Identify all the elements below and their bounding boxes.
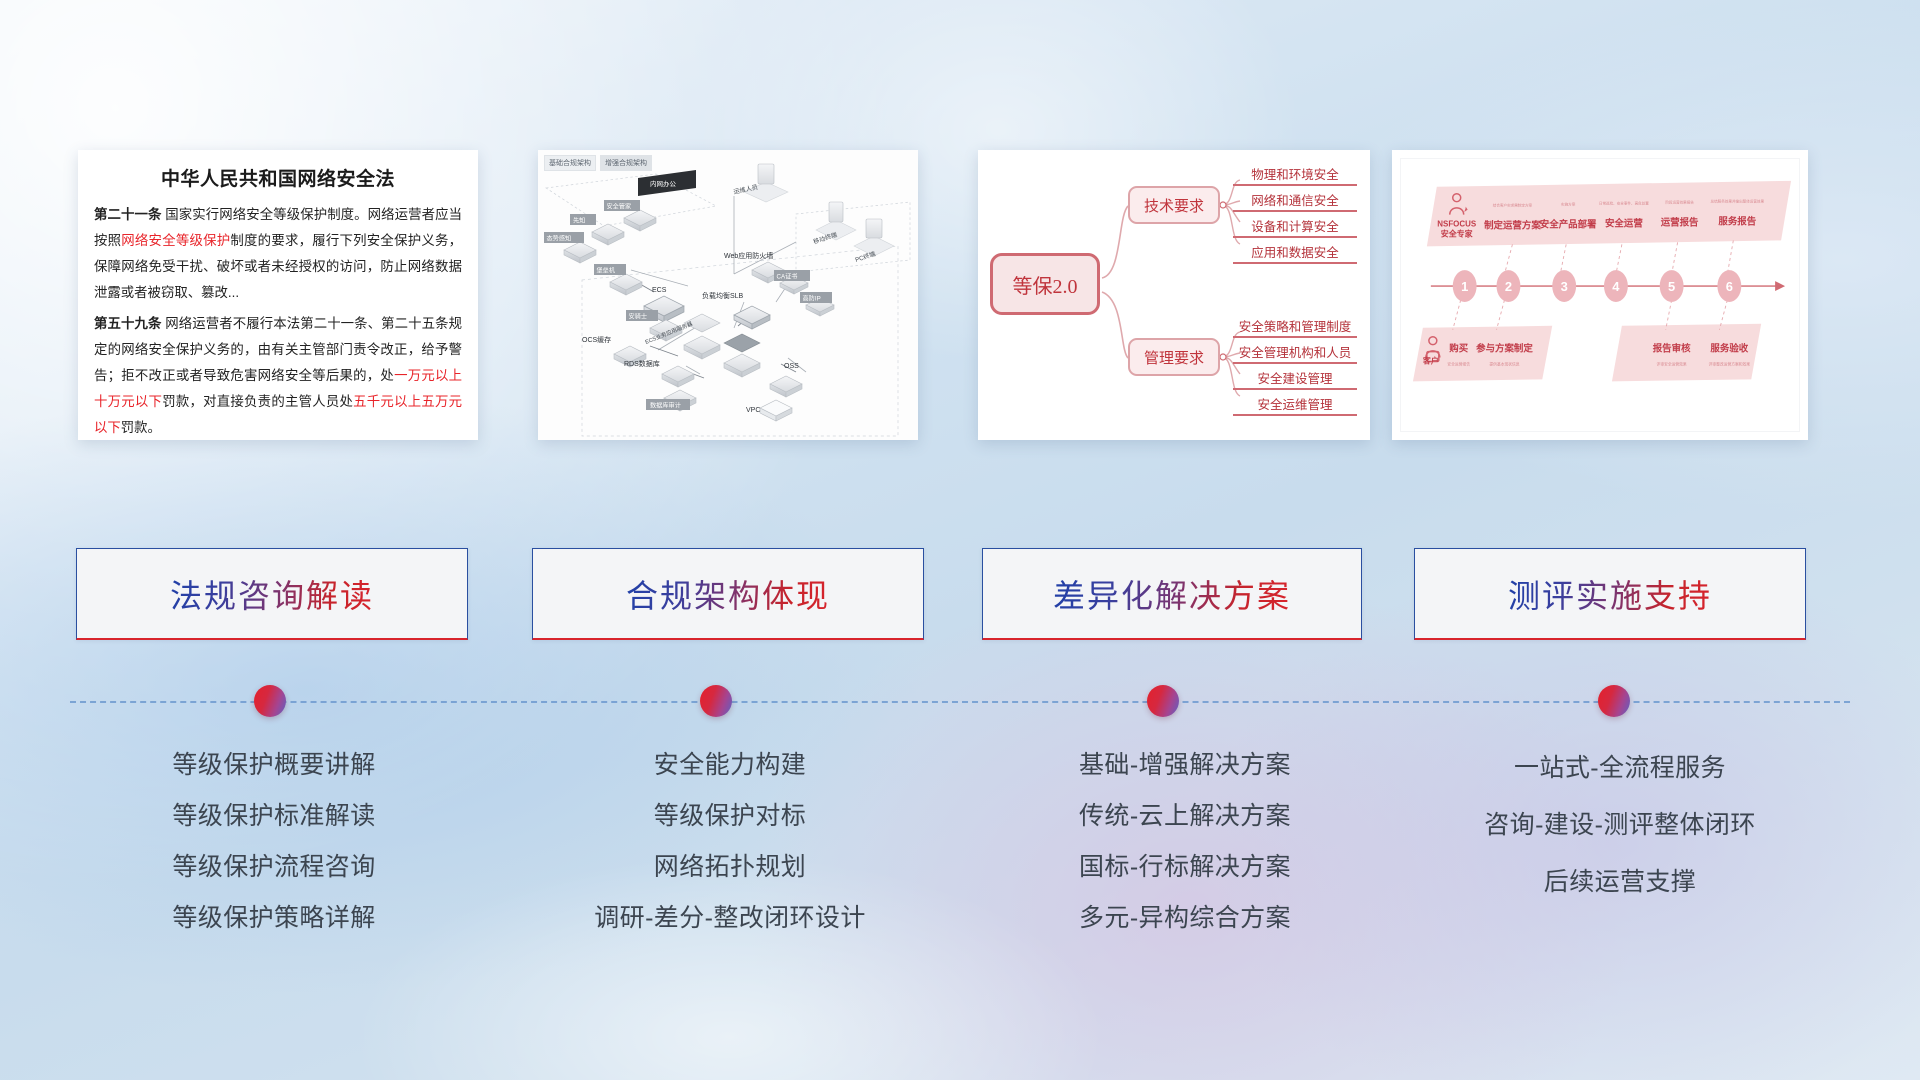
- arch-label-17: OSS: [784, 363, 799, 370]
- nsfocus-bottom-caption-4: 评审整改运营方案和效果: [1709, 361, 1751, 366]
- architecture-banner-label: 内网办公: [650, 179, 677, 188]
- nsfocus-step-number-2: 2: [1505, 279, 1512, 294]
- section-title-label-4: 测评实施支持: [1508, 571, 1712, 617]
- nsfocus-top-title-2: 安全产品部署: [1540, 219, 1597, 231]
- nsfocus-top-title-3: 安全运营: [1605, 218, 1643, 230]
- law-article-21: 第二十一条 国家实行网络安全等级保护制度。网络运营者应当按照网络安全等级保护制度…: [94, 202, 462, 306]
- list-item: 基础-增强解决方案: [975, 740, 1395, 791]
- list-item: 传统-云上解决方案: [975, 791, 1395, 842]
- card-cybersecurity-law[interactable]: 中华人民共和国网络安全法 第二十一条 国家实行网络安全等级保护制度。网络运营者应…: [78, 150, 478, 440]
- slide-stage: 中华人民共和国网络安全法 第二十一条 国家实行网络安全等级保护制度。网络运营者应…: [0, 0, 1920, 1080]
- section-title-box-1[interactable]: 法规咨询解读: [76, 548, 468, 640]
- nsfocus-top-caption-2: 实施方案: [1561, 202, 1576, 207]
- law-document: 中华人民共和国网络安全法 第二十一条 国家实行网络安全等级保护制度。网络运营者应…: [78, 150, 478, 440]
- nsfocus-top-caption-5: 总结服务效果并输出整体运营效果: [1711, 199, 1765, 204]
- nsfocus-bottom-caption-1: 安全运营报告: [1447, 361, 1470, 366]
- timeline-dot-2[interactable]: [700, 685, 732, 717]
- arch-label-8: CA证书: [777, 272, 798, 280]
- nsfocus-step-number-6: 6: [1726, 279, 1733, 294]
- law-article-21-highlight: 网络安全等级保护: [121, 233, 230, 248]
- arch-label-12: 安骑士: [629, 312, 648, 320]
- mindmap-leaf-m1: 安全策略和管理制度: [1233, 316, 1357, 338]
- list-item: 咨询-建设-测评整体闭环: [1410, 797, 1830, 854]
- section-items-4: 一站式-全流程服务 咨询-建设-测评整体闭环 后续运营支撑: [1410, 740, 1830, 911]
- nsfocus-customer-label: 客户: [1422, 356, 1439, 366]
- arch-label-9: 高防IP: [803, 294, 821, 302]
- arch-label-2: 态势感知: [547, 234, 572, 242]
- arch-label-16b: 数据库审计: [650, 401, 681, 409]
- nsfocus-top-title-4: 运营报告: [1661, 217, 1699, 229]
- list-item: 一站式-全流程服务: [1410, 740, 1830, 797]
- mindmap-leaf-t3: 设备和计算安全: [1233, 216, 1357, 238]
- list-item: 多元-异构综合方案: [975, 893, 1395, 944]
- section-title-row: 法规咨询解读 合规架构体现 差异化解决方案 测评实施支持: [0, 548, 1920, 644]
- arch-label-5: Web应用防火墙: [724, 251, 773, 260]
- arch-label-3: 堡垒机: [597, 266, 616, 274]
- nsfocus-process: 1 2 3 4 5 6 NSFOCUS 安全专家 客户: [1392, 150, 1808, 440]
- section-title-label-2: 合规架构体现: [626, 571, 830, 617]
- nsfocus-top-caption-3: 日常巡检、安全事件、高危处置: [1599, 201, 1649, 206]
- nsfocus-bottom-title-1: 购买: [1449, 343, 1468, 355]
- nsfocus-bottom-caption-2: 提供基本现状信息: [1489, 361, 1519, 366]
- mindmap-branch-technical: 技术要求: [1128, 186, 1220, 224]
- section-items-3: 基础-增强解决方案 传统-云上解决方案 国标-行标解决方案 多元-异构综合方案: [975, 740, 1395, 944]
- list-item: 网络拓扑规划: [520, 842, 940, 893]
- nsfocus-top-title-1: 制定运营方案: [1484, 219, 1541, 231]
- section-title-box-4[interactable]: 测评实施支持: [1414, 548, 1806, 640]
- section-items-row: 等级保护概要讲解 等级保护标准解读 等级保护流程咨询 等级保护策略详解 安全能力…: [0, 740, 1920, 960]
- mindmap-leaf-m4: 安全运维管理: [1233, 394, 1357, 416]
- list-item: 等级保护策略详解: [74, 893, 474, 944]
- arch-label-14: OCS缓存: [582, 335, 611, 344]
- law-article-59: 第五十九条 网络运营者不履行本法第二十一条、第二十五条规定的网络安全保护义务的，…: [94, 311, 462, 440]
- mindmap-leaf-m3: 安全建设管理: [1233, 368, 1357, 390]
- law-article-21-label: 第二十一条: [94, 207, 161, 222]
- nsfocus-role-sub: 安全专家: [1441, 228, 1473, 238]
- mindmap-root: 等保2.0: [990, 253, 1100, 315]
- card-dengbao-mindmap[interactable]: 等保2.0 技术要求 管理要求 物理和环境安全 网络和通信安全 设备和计算安全 …: [978, 150, 1370, 440]
- section-title-box-3[interactable]: 差异化解决方案: [982, 548, 1362, 640]
- list-item: 等级保护概要讲解: [74, 740, 474, 791]
- mindmap-leaf-t2: 网络和通信安全: [1233, 190, 1357, 212]
- nsfocus-top-caption-4: 阶段运营效果报告: [1665, 200, 1694, 205]
- nsfocus-top-title-5: 服务报告: [1718, 216, 1756, 228]
- nsfocus-bottom-caption-3: 评审安全运营效果: [1657, 361, 1687, 366]
- law-title: 中华人民共和国网络安全法: [94, 164, 462, 191]
- nsfocus-step-number-4: 4: [1612, 279, 1620, 294]
- illustration-card-row: 中华人民共和国网络安全法 第二十一条 国家实行网络安全等级保护制度。网络运营者应…: [0, 150, 1920, 440]
- architecture-canvas: 内网办公 安全管家 先知 态势感知 堡垒机 CA证书 高防IP 安骑士: [538, 150, 918, 440]
- mindmap-leaf-m2: 安全管理机构和人员: [1233, 342, 1357, 364]
- list-item: 调研-差分-整改闭环设计: [520, 893, 940, 944]
- nsfocus-bottom-title-4: 服务验收: [1710, 343, 1748, 355]
- list-item: 国标-行标解决方案: [975, 842, 1395, 893]
- arch-label-15: RDS数据库: [624, 359, 660, 368]
- nsfocus-top-caption-1: 结合客户实求需制定方案: [1493, 203, 1533, 208]
- mindmap-leaf-t1: 物理和环境安全: [1233, 164, 1357, 186]
- law-article-59-text-c: 罚款。: [121, 420, 161, 435]
- architecture-diagram: 基础合规架构 增强合规架构: [538, 150, 918, 440]
- mindmap-leaf-t4: 应用和数据安全: [1233, 242, 1357, 264]
- list-item: 等级保护流程咨询: [74, 842, 474, 893]
- section-title-label-1: 法规咨询解读: [170, 571, 374, 617]
- timeline: [0, 672, 1920, 732]
- timeline-dot-3[interactable]: [1147, 685, 1179, 717]
- card-cloud-architecture[interactable]: 基础合规架构 增强合规架构: [538, 150, 918, 440]
- list-item: 后续运营支撑: [1410, 854, 1830, 911]
- mindmap-branch-management: 管理要求: [1128, 338, 1220, 376]
- nsfocus-step-number-5: 5: [1668, 279, 1675, 294]
- arch-label-0: 安全管家: [607, 202, 632, 210]
- nsfocus-step-number-1: 1: [1461, 279, 1468, 294]
- mindmap: 等保2.0 技术要求 管理要求 物理和环境安全 网络和通信安全 设备和计算安全 …: [978, 150, 1370, 440]
- arch-label-10: ECS: [652, 287, 667, 294]
- list-item: 等级保护对标: [520, 791, 940, 842]
- architecture-banner: 内网办公: [638, 170, 696, 196]
- arch-label-18: VPC: [746, 407, 760, 414]
- list-item: 安全能力构建: [520, 740, 940, 791]
- nsfocus-role-name: NSFOCUS: [1437, 220, 1476, 229]
- section-items-2: 安全能力构建 等级保护对标 网络拓扑规划 调研-差分-整改闭环设计: [520, 740, 940, 944]
- law-article-59-label: 第五十九条: [94, 316, 161, 331]
- arch-label-11: 负载均衡SLB: [702, 291, 744, 300]
- timeline-dot-1[interactable]: [254, 685, 286, 717]
- section-title-box-2[interactable]: 合规架构体现: [532, 548, 924, 640]
- timeline-dot-4[interactable]: [1598, 685, 1630, 717]
- nsfocus-canvas: 1 2 3 4 5 6 NSFOCUS 安全专家 客户: [1401, 159, 1799, 431]
- section-title-label-3: 差异化解决方案: [1053, 571, 1291, 617]
- nsfocus-bottom-title-2: 参与方案制定: [1476, 343, 1533, 355]
- law-article-59-text-b: 罚款，对直接负责的主管人员处: [162, 394, 353, 409]
- section-items-1: 等级保护概要讲解 等级保护标准解读 等级保护流程咨询 等级保护策略详解: [74, 740, 474, 944]
- list-item: 等级保护标准解读: [74, 791, 474, 842]
- nsfocus-bottom-title-3: 报告审核: [1653, 343, 1691, 355]
- card-nsfocus-timeline[interactable]: 1 2 3 4 5 6 NSFOCUS 安全专家 客户: [1392, 150, 1808, 440]
- arch-label-1: 先知: [573, 216, 585, 224]
- nsfocus-step-number-3: 3: [1561, 279, 1568, 294]
- timeline-dashed-line: [70, 701, 1850, 703]
